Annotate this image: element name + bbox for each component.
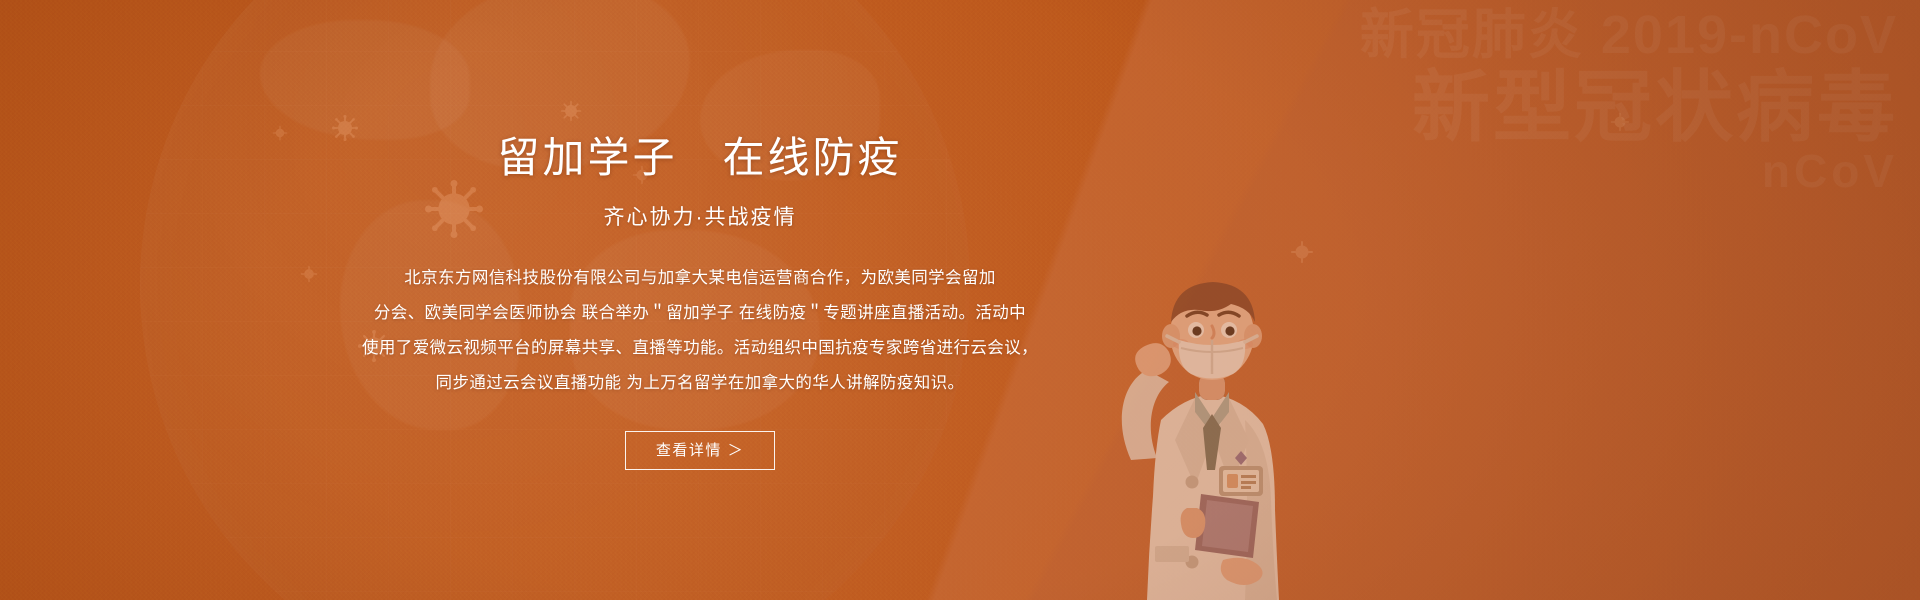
covid-campaign-banner: 新冠肺炎 2019-nCoV 新型冠状病毒 nCoV bbox=[0, 0, 1920, 600]
description-line: 分会、欧美同学会医师协会 联合举办＂留加学子 在线防疫＂专题讲座直播活动。活动中 bbox=[300, 296, 1100, 331]
description-line: 北京东方网信科技股份有限公司与加拿大某电信运营商合作，为欧美同学会留加 bbox=[300, 261, 1100, 296]
banner-subtitle: 齐心协力·共战疫情 bbox=[0, 201, 1400, 231]
description-line: 使用了爱微云视频平台的屏幕共享、直播等功能。活动组织中国抗疫专家跨省进行云会议， bbox=[300, 331, 1100, 366]
banner-title: 留加学子 在线防疫 bbox=[0, 132, 1400, 185]
banner-content: 留加学子 在线防疫 齐心协力·共战疫情 北京东方网信科技股份有限公司与加拿大某电… bbox=[0, 0, 1400, 470]
description-line: 同步通过云会议直播功能 为上万名留学在加拿大的华人讲解防疫知识。 bbox=[300, 366, 1100, 401]
banner-description: 北京东方网信科技股份有限公司与加拿大某电信运营商合作，为欧美同学会留加 分会、欧… bbox=[300, 261, 1100, 401]
cta-container: 查看详情 ＞ bbox=[0, 431, 1400, 470]
view-details-button[interactable]: 查看详情 ＞ bbox=[625, 431, 775, 470]
